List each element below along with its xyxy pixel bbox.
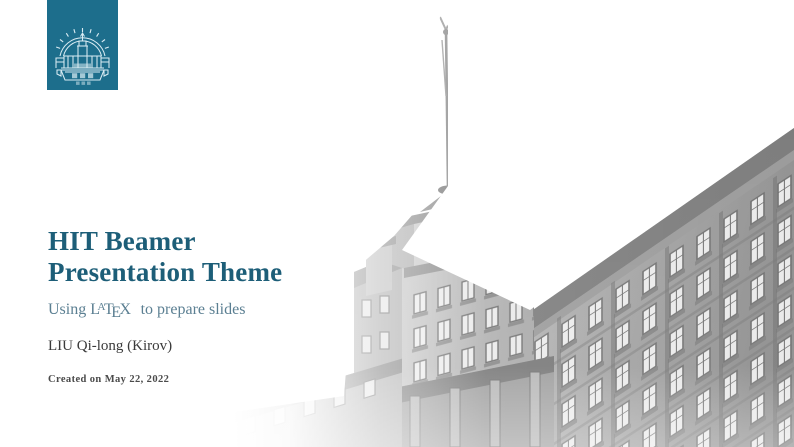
hit-university-emblem xyxy=(47,0,118,90)
author-name: LIU Qi-long (Kirov) xyxy=(48,337,468,356)
emblem-motto-glyphs xyxy=(76,82,91,85)
hit-emblem-svg xyxy=(47,0,118,90)
page-title-line1: HIT Beamer xyxy=(48,226,468,257)
emblem-name-glyphs xyxy=(72,73,93,78)
building-right-wing xyxy=(530,128,794,447)
presentation-title-slide: HIT Beamer Presentation Theme Using LATE… xyxy=(0,0,794,447)
latex-logo: LATEX xyxy=(90,300,136,321)
latex-x: X xyxy=(120,301,131,318)
subtitle-suffix: to prepare slides xyxy=(137,301,246,318)
subtitle-prefix: Using xyxy=(48,301,90,318)
emblem-year-band xyxy=(74,64,91,68)
creation-date: Created on May 22, 2022 xyxy=(48,373,468,387)
title-block: HIT Beamer Presentation Theme Using LATE… xyxy=(48,226,468,387)
page-subtitle: Using LATEX to prepare slides xyxy=(48,300,468,321)
page-title-line2: Presentation Theme xyxy=(48,257,468,288)
